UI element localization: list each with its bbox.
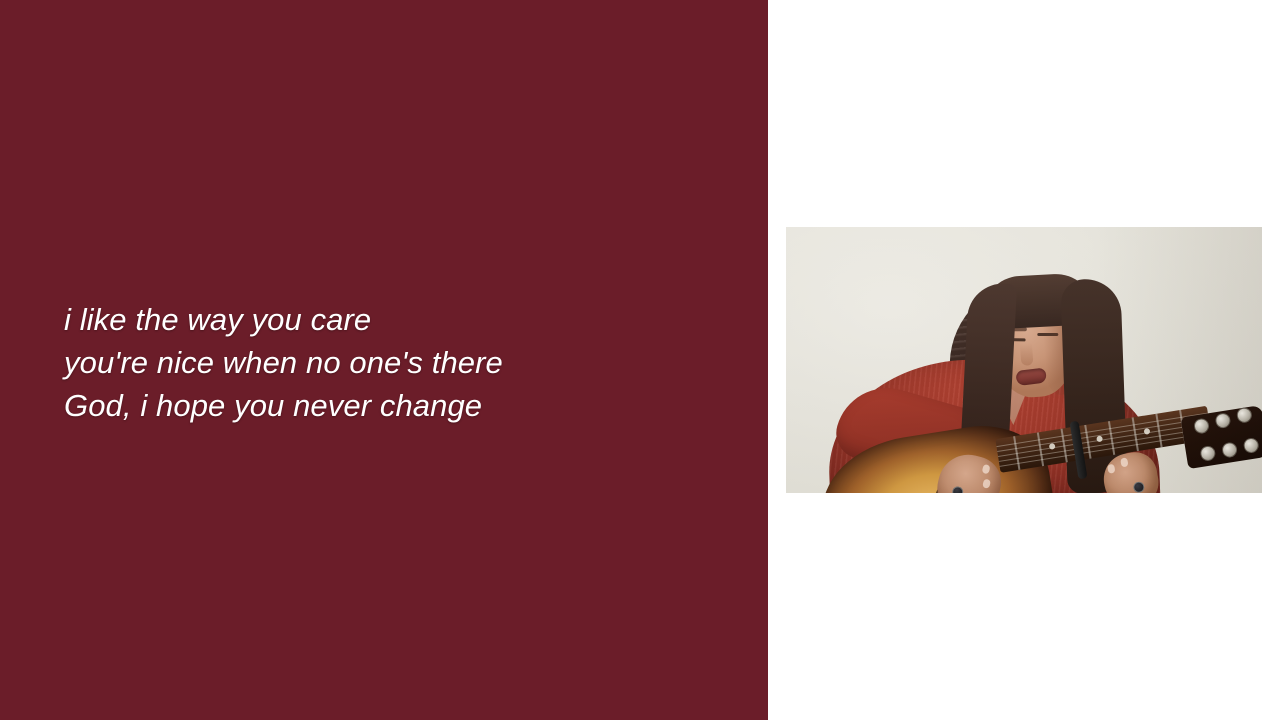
- guitar-string: [997, 418, 1209, 452]
- tuning-peg: [1221, 441, 1238, 458]
- tuning-peg: [1243, 437, 1260, 454]
- acoustic-guitar: [786, 227, 1262, 493]
- lyric-line-1: i like the way you care: [64, 298, 724, 341]
- finger-ring: [1133, 481, 1146, 493]
- lyric-line-3: God, i hope you never change: [64, 384, 724, 427]
- tuning-peg: [1193, 417, 1210, 434]
- guitar-neck-fretboard: [995, 406, 1212, 473]
- fingernail: [982, 464, 991, 474]
- tuning-peg: [1214, 412, 1231, 429]
- tuning-peg: [1199, 445, 1216, 462]
- finger-ring: [951, 485, 964, 493]
- guitar-string: [996, 413, 1208, 447]
- lyric-block: i like the way you care you're nice when…: [64, 298, 724, 427]
- tuning-peg: [1236, 407, 1253, 424]
- lyric-line-2: you're nice when no one's there: [64, 341, 724, 384]
- fingernail: [1120, 457, 1128, 467]
- fingernail: [982, 478, 991, 488]
- fingernail: [1107, 464, 1115, 474]
- performance-video-frame[interactable]: [786, 227, 1262, 493]
- lyric-panel: i like the way you care you're nice when…: [0, 0, 768, 720]
- video-stage: i like the way you care you're nice when…: [0, 0, 1280, 720]
